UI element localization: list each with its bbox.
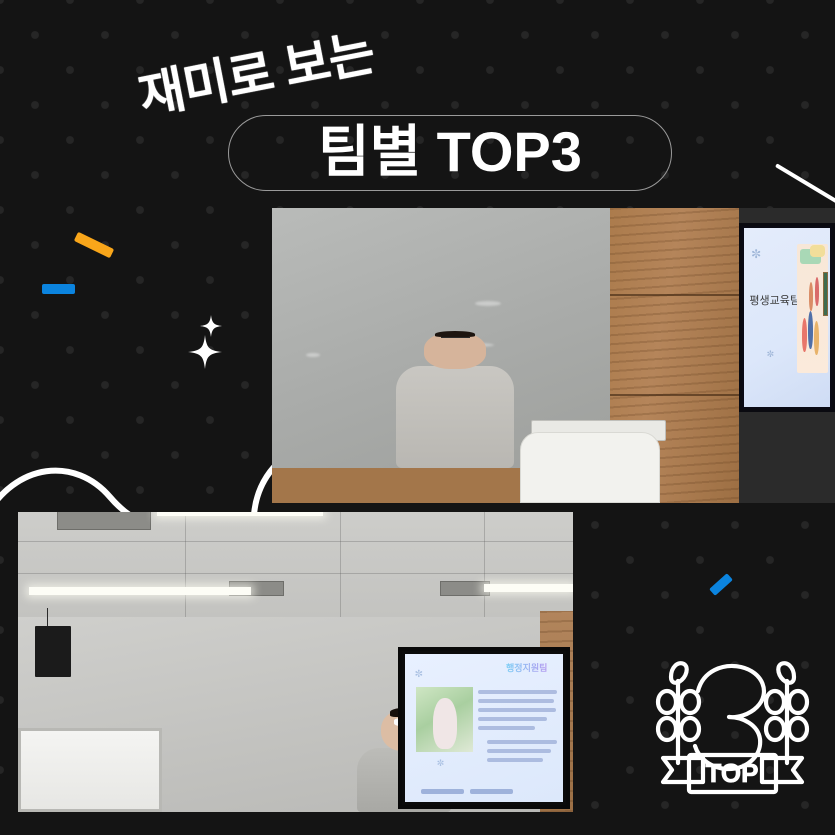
ceiling-light	[157, 512, 324, 516]
confetti-stick-blue-left	[42, 284, 75, 294]
wall-speaker	[35, 626, 71, 677]
promo-card: 재미로 보는 팀별 TOP3 ✼ ✼ 평생교육팀	[0, 0, 835, 835]
ceiling-vent	[440, 581, 490, 596]
illustration-child	[802, 318, 807, 351]
top3-badge: TOP	[645, 645, 820, 810]
wood-panel-seam	[610, 394, 739, 396]
ceiling-grid-line	[484, 512, 485, 617]
ceiling-light	[484, 584, 573, 592]
ceiling-grid-line	[18, 541, 573, 542]
ceiling-light	[29, 587, 251, 595]
presenter-sweater	[396, 366, 514, 468]
diagonal-streak-line	[775, 163, 835, 213]
badge-ribbon-label: TOP	[706, 758, 759, 788]
monitor-slide: 행정지원팀 ✼ ✼	[405, 654, 563, 802]
wall-scuff	[475, 301, 501, 306]
sparkle-small-icon	[200, 315, 222, 337]
slide-text-block-2	[487, 740, 557, 767]
projector-slide: ✼ ✼ 평생교육팀	[744, 228, 830, 407]
snowflake-icon: ✼	[767, 349, 775, 360]
slide-team-name-top: 평생교육팀	[749, 292, 800, 308]
photo-bottom: 행정지원팀 ✼ ✼	[18, 512, 573, 812]
ceiling-grid-line	[18, 573, 573, 574]
ceiling-grid-line	[340, 512, 341, 617]
glasses-icon	[441, 337, 469, 338]
page-title-pill: 팀별 TOP3	[228, 115, 672, 191]
sparkle-large-icon	[188, 335, 222, 369]
confetti-stick-orange	[74, 232, 114, 259]
page-kicker: 재미로 보는	[132, 13, 379, 129]
whiteboard	[18, 728, 162, 812]
ceiling-vent	[57, 512, 151, 530]
slide-text-block-1	[478, 690, 557, 735]
illustration-child	[815, 277, 819, 305]
podium	[520, 432, 661, 503]
slide-team-name-bottom: 행정지원팀	[418, 661, 548, 685]
page-title: 팀별 TOP3	[318, 124, 582, 180]
snowflake-icon: ✼	[415, 669, 423, 680]
projector-screen-top: ✼ ✼ 평생교육팀	[739, 223, 835, 412]
wall-scuff	[306, 353, 320, 357]
illustration-child	[814, 321, 819, 354]
snowflake-icon: ✼	[437, 758, 445, 769]
slide-illustration	[797, 244, 828, 373]
snowflake-icon: ✼	[751, 247, 761, 261]
presenter-person-top	[396, 332, 514, 468]
illustration-child	[809, 282, 813, 310]
slide-footer-logos	[421, 786, 513, 798]
wood-panel-seam	[610, 294, 739, 296]
ceiling-grid-line	[185, 512, 186, 617]
illustration-chalkboard	[823, 272, 828, 316]
presentation-monitor-bottom: 행정지원팀 ✼ ✼	[398, 647, 570, 809]
illustration-sign	[810, 245, 824, 257]
slide-photo	[416, 687, 473, 752]
slide-photo-subject	[433, 698, 457, 749]
presenter-head	[424, 332, 485, 369]
confetti-stick-blue-right	[709, 573, 733, 596]
photo-top: ✼ ✼ 평생교육팀	[272, 208, 835, 503]
illustration-child	[808, 311, 813, 350]
